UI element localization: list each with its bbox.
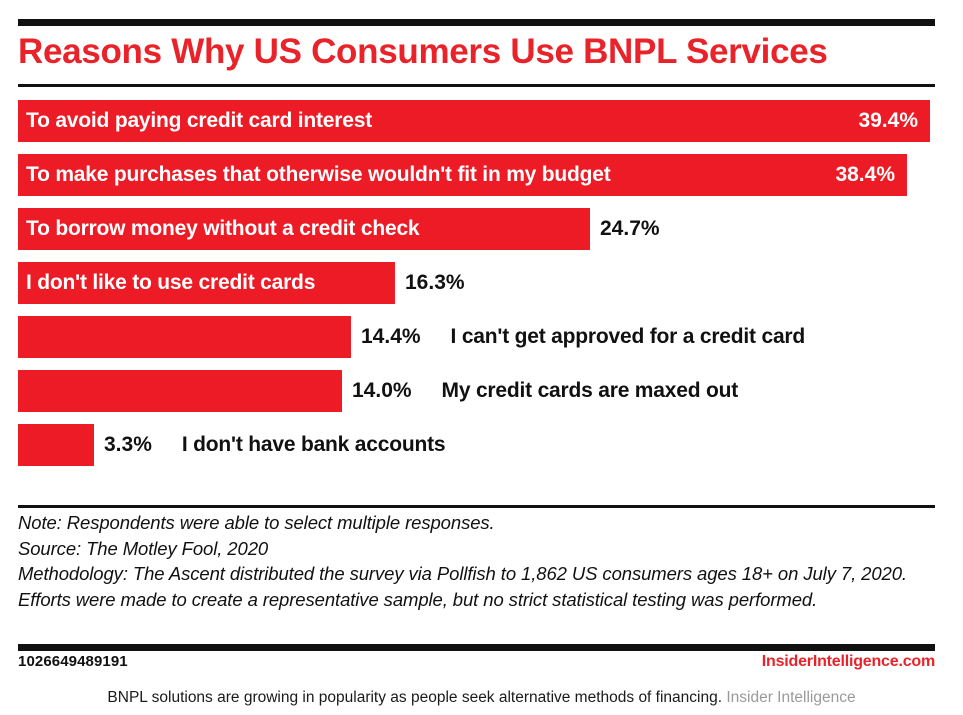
caption-attribution: Insider Intelligence — [726, 689, 855, 706]
title-divider-rule — [18, 84, 935, 87]
image-caption: BNPL solutions are growing in popularity… — [0, 688, 963, 708]
methodology-line: Methodology: The Ascent distributed the … — [18, 561, 935, 612]
caption-text: BNPL solutions are growing in popularity… — [107, 689, 722, 706]
bar-category-label: I don't have bank accounts — [182, 424, 446, 466]
infographic-card: Reasons Why US Consumers Use BNPL Servic… — [0, 0, 963, 681]
page-title: Reasons Why US Consumers Use BNPL Servic… — [18, 27, 938, 77]
notes-block: Note: Respondents were able to select mu… — [18, 510, 935, 612]
bar-category-label: I can't get approved for a credit card — [451, 316, 806, 358]
bar-value-label: 24.7% — [600, 208, 660, 250]
bar-value-label: 39.4% — [858, 100, 918, 142]
footer-divider-rule — [18, 644, 935, 651]
bar-value-label: 38.4% — [835, 154, 895, 196]
bar-fill — [18, 424, 94, 466]
bar-chart: To avoid paying credit card interest39.4… — [0, 100, 963, 495]
bar-value-label: 3.3% — [104, 424, 152, 466]
bar-value-label: 14.4% — [361, 316, 421, 358]
brand-link[interactable]: InsiderIntelligence.com — [762, 653, 935, 671]
bar-value-label: 16.3% — [405, 262, 465, 304]
bar-value-label: 14.0% — [352, 370, 412, 412]
source-line: Source: The Motley Fool, 2020 — [18, 536, 935, 562]
bar-fill — [18, 316, 351, 358]
chart-id: 1026649489191 — [18, 653, 128, 670]
footer: 1026649489191 InsiderIntelligence.com — [18, 653, 935, 675]
bar-category-label: My credit cards are maxed out — [442, 370, 739, 412]
bar-category-label: I don't like to use credit cards — [26, 262, 315, 304]
notes-divider-rule — [18, 505, 935, 508]
bar-fill — [18, 370, 342, 412]
top-divider-rule — [18, 19, 935, 26]
note-line: Note: Respondents were able to select mu… — [18, 510, 935, 536]
bar-category-label: To borrow money without a credit check — [26, 208, 419, 250]
bar-category-label: To make purchases that otherwise wouldn'… — [26, 154, 611, 196]
bar-category-label: To avoid paying credit card interest — [26, 100, 372, 142]
